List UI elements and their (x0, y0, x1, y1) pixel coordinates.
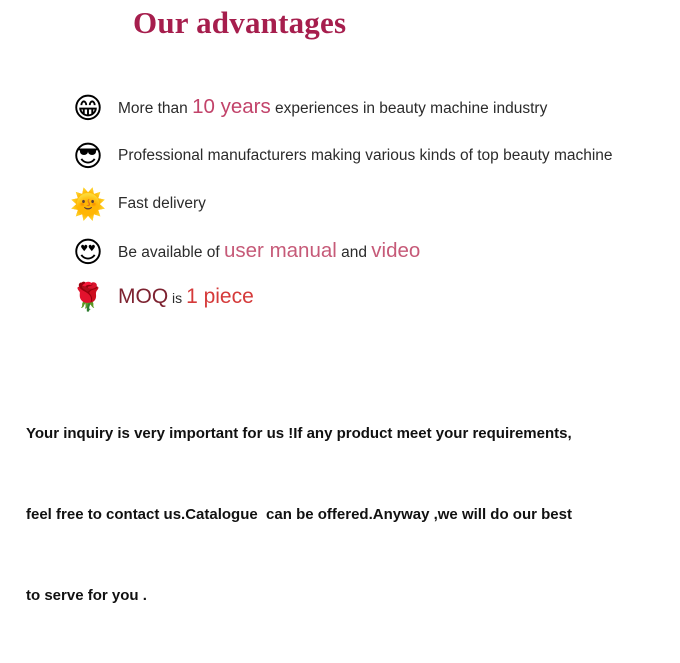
advantages-list: 😁 More than 10 years experiences in beau… (0, 84, 680, 320)
inquiry-line-2: feel free to contact us.Catalogue can be… (26, 501, 666, 528)
advantage-text-before: Fast delivery (118, 195, 206, 212)
smiling-face-with-sunglasses-icon: 😎 (68, 139, 108, 173)
advantage-text: More than 10 years experiences in beauty… (118, 96, 547, 120)
advantage-highlight-video: video (371, 239, 420, 262)
rose-icon: 🌹 (68, 281, 108, 315)
list-item: 😍 Be available of user manual and video (0, 228, 680, 276)
list-item: 🌹 MOQ is 1 piece (0, 276, 680, 320)
smiling-face-with-heart-eyes-icon: 😍 (68, 235, 108, 269)
moq-connector: is (168, 290, 186, 306)
advantage-text: Be available of user manual and video (118, 240, 420, 264)
advantage-text-after: experiences in beauty machine industry (271, 100, 548, 117)
advantages-page: Our advantages 😁 More than 10 years expe… (0, 0, 680, 456)
list-item: 😎 Professional manufacturers making vari… (0, 132, 680, 180)
sun-with-face-icon: 🌞 (68, 187, 108, 221)
inquiry-line-1: Your inquiry is very important for us !I… (26, 420, 666, 447)
list-item: 🌞 Fast delivery (0, 180, 680, 228)
inquiry-line-3: to serve for you . (26, 582, 666, 609)
advantage-text-before: Professional manufacturers making variou… (118, 147, 613, 164)
advantage-text-before: Be available of (118, 244, 224, 261)
moq-value: 1 piece (186, 285, 254, 308)
inquiry-paragraph: Your inquiry is very important for us !I… (26, 366, 666, 663)
grinning-face-with-smiling-eyes-icon: 😁 (68, 91, 108, 125)
advantage-text: Fast delivery (118, 193, 206, 215)
advantage-text: MOQ is 1 piece (118, 286, 254, 310)
advantage-text-mid: and (337, 244, 371, 261)
advantage-text: Professional manufacturers making variou… (118, 145, 613, 167)
advantage-highlight-years: 10 years (192, 95, 271, 118)
advantage-highlight-user-manual: user manual (224, 239, 337, 262)
page-title: Our advantages (133, 4, 346, 42)
advantage-text-before: More than (118, 100, 192, 117)
list-item: 😁 More than 10 years experiences in beau… (0, 84, 680, 132)
moq-label: MOQ (118, 285, 168, 308)
